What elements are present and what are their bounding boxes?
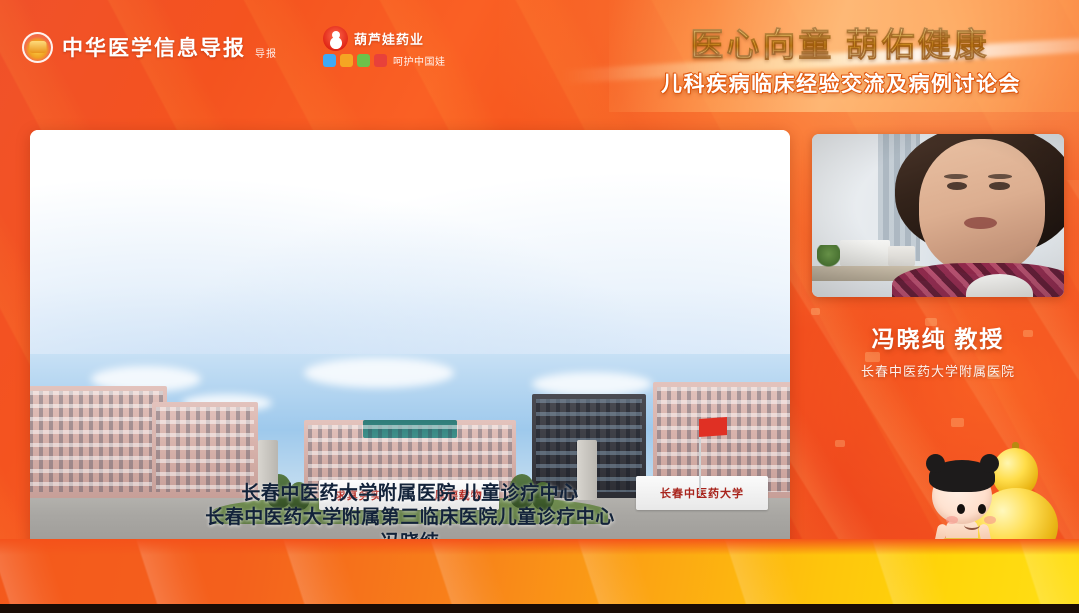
video-person bbox=[888, 134, 1064, 297]
person-eyebrow bbox=[944, 174, 968, 179]
emblem-icon bbox=[22, 32, 53, 63]
slide-line-1: 长春中医药大学附属医院 儿童诊疗中心 bbox=[30, 482, 790, 506]
speaker-video-tile[interactable] bbox=[812, 134, 1064, 297]
person-eye bbox=[947, 182, 967, 190]
mascot-hair-bun bbox=[980, 454, 999, 473]
logo-hulu-pharma: 葫芦娃药业 呵护中国娃 bbox=[323, 26, 446, 68]
tile-red-icon bbox=[374, 54, 387, 67]
logo-hulu-bottom-row: 呵护中国娃 bbox=[323, 53, 446, 68]
footer-bar bbox=[0, 604, 1079, 613]
header-logo-row: 中华医学信息导报 导报 葫芦娃药业 呵护中国娃 bbox=[22, 26, 446, 68]
event-title: 医心向童 葫佑健康 bbox=[609, 18, 1071, 66]
slide-line-2: 长春中医药大学附属第三临床医院儿童诊疗中心 bbox=[30, 506, 790, 530]
bottom-decorative-band bbox=[0, 539, 1079, 613]
person-face bbox=[919, 139, 1045, 274]
logo-china-medical-journal: 中华医学信息导报 导报 bbox=[22, 32, 277, 63]
tile-orange-icon bbox=[340, 54, 353, 67]
broadcast-stage: 中华医学信息导报 导报 葫芦娃药业 呵护中国娃 医心向童 葫佑健康 儿科疾病临床… bbox=[0, 0, 1079, 613]
presentation-slide[interactable]: 儿童用药现状及未来趋势 求真务实 厚德载物 bbox=[30, 130, 790, 554]
tile-blue-icon bbox=[323, 54, 336, 67]
mascot-hair-bun bbox=[926, 454, 945, 473]
logo-hulu-tagline: 呵护中国娃 bbox=[393, 53, 446, 68]
logo-hulu-label: 葫芦娃药业 bbox=[354, 29, 424, 48]
gourd-badge-icon bbox=[323, 26, 348, 51]
logo-hulu-top-row: 葫芦娃药业 bbox=[323, 26, 446, 51]
video-box-object bbox=[840, 240, 890, 266]
mascot-eye bbox=[957, 504, 965, 514]
tile-green-icon bbox=[357, 54, 370, 67]
person-eye bbox=[989, 182, 1009, 190]
person-eyebrow bbox=[988, 174, 1012, 179]
campus-flag bbox=[699, 417, 727, 437]
mascot-eye bbox=[978, 504, 986, 514]
mascot-smile bbox=[964, 520, 980, 530]
event-subtitle: 儿科疾病临床经验交流及病例讨论会 bbox=[609, 68, 1073, 98]
speaker-organization: 长春中医药大学附属医院 bbox=[812, 361, 1064, 380]
speaker-name: 冯晓纯 教授 bbox=[812, 320, 1064, 354]
person-mouth bbox=[964, 217, 997, 229]
mascot-cheek bbox=[946, 516, 958, 524]
bottom-band-fade bbox=[0, 539, 1079, 555]
event-banner: 医心向童 葫佑健康 儿科疾病临床经验交流及病例讨论会 bbox=[609, 0, 1079, 112]
cloud-shape bbox=[532, 372, 652, 396]
logo-cma-label: 中华医学信息导报 bbox=[62, 32, 246, 62]
mascot-cheek bbox=[984, 516, 996, 524]
video-plant-object bbox=[817, 245, 840, 268]
cloud-shape bbox=[304, 358, 454, 388]
logo-cma-suffix: 导报 bbox=[255, 45, 277, 63]
speaker-caption: 冯晓纯 教授 长春中医药大学附属医院 bbox=[812, 320, 1064, 380]
